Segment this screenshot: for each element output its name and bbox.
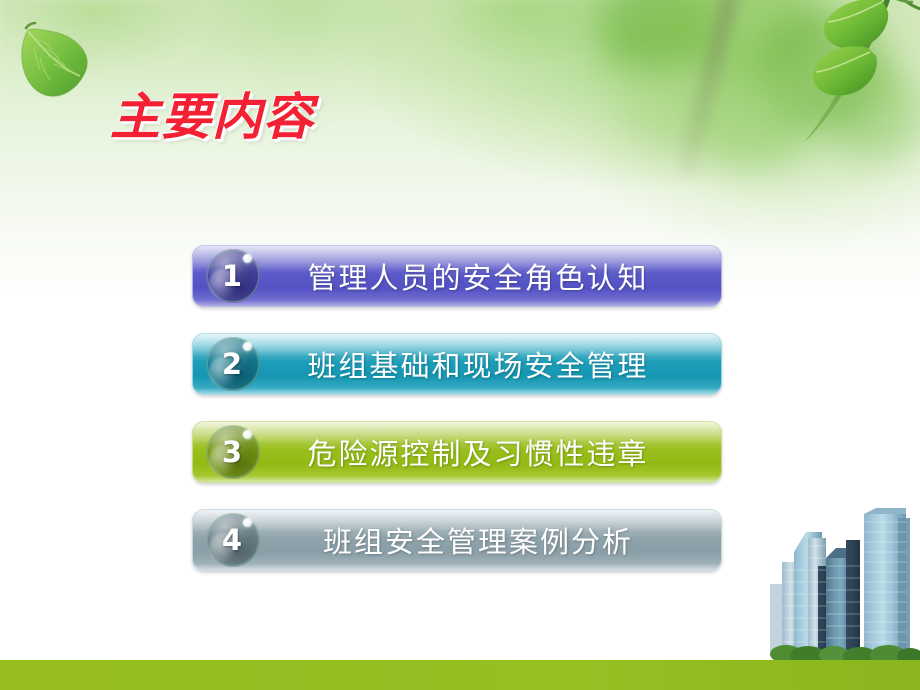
leaf-branch-icon (796, 0, 920, 146)
item-label: 班组基础和现场安全管理 (192, 333, 722, 395)
item-label: 管理人员的安全角色认知 (192, 245, 722, 307)
leaf-icon (8, 14, 104, 110)
page-title: 主要内容 (110, 92, 314, 142)
item-label: 危险源控制及习惯性违章 (192, 421, 722, 483)
content-list: 1 管理人员的安全角色认知 2 班组基础和现场安全管理 (192, 245, 722, 571)
slide-canvas: 主要内容 1 管理人员的安全角色认知 2 (0, 0, 920, 690)
list-item[interactable]: 3 危险源控制及习惯性违章 (192, 421, 722, 483)
list-item[interactable]: 2 班组基础和现场安全管理 (192, 333, 722, 395)
list-item[interactable]: 4 班组安全管理案例分析 (192, 509, 722, 571)
list-item[interactable]: 1 管理人员的安全角色认知 (192, 245, 722, 307)
footer-bar (0, 660, 920, 690)
item-label: 班组安全管理案例分析 (192, 509, 722, 571)
skyscrapers-icon (764, 496, 920, 660)
